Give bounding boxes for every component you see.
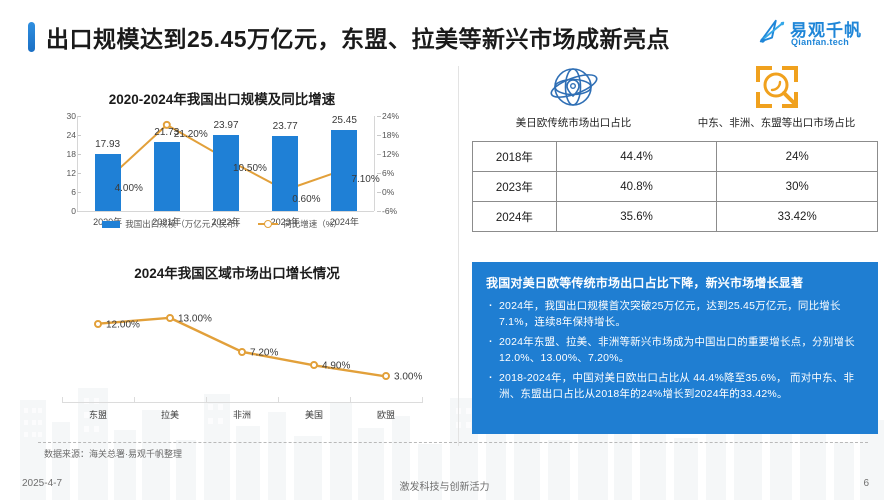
chart2-x-label: 美国 (305, 408, 323, 421)
chart1-bar (154, 142, 180, 211)
chart1-line-value-label: 4.00% (115, 183, 143, 194)
chart2-axis-tick (278, 397, 279, 403)
chart2-point-value-label: 4.90% (322, 361, 350, 372)
chart1-right-tick: 18% (382, 130, 399, 140)
chart2-axis-tick (422, 397, 423, 403)
legend-item-bar: 我国出口规模（万亿元人民币） (102, 218, 244, 230)
chart2-point-value-label: 7.20% (250, 347, 278, 358)
chart1-right-tick: -6% (382, 206, 397, 216)
title-accent-bar (28, 22, 35, 52)
chart1-line-value-label: 0.60% (292, 194, 320, 205)
chart2-x-label: 东盟 (89, 408, 107, 421)
chart1-left-tick: 0 (71, 206, 76, 216)
source-divider (38, 442, 868, 443)
chart2-point-marker (310, 361, 318, 369)
chart2-baseline (62, 402, 422, 403)
chart2-title: 2024年我国区域市场出口增长情况 (22, 262, 452, 282)
table-row: 2024年35.6%33.42% (473, 202, 878, 232)
regional-growth-chart: 2024年我国区域市场出口增长情况 12.00%13.00%7.20%4.90%… (22, 262, 452, 432)
page-header: 出口规模达到25.45万亿元，东盟、拉美等新兴市场成新亮点 易观千帆 Qianf… (0, 0, 889, 62)
chart1-left-tick: 6 (71, 187, 76, 197)
chart2-point-marker (166, 314, 174, 322)
magnifier-frame-icon (752, 62, 802, 112)
market-share-table: 2018年44.4%24%2023年40.8%30%2024年35.6%33.4… (472, 141, 878, 232)
chart1-series-area: 17.9321.7323.9723.7725.454.00%21.20%10.5… (78, 116, 374, 211)
table-cell-year: 2023年 (473, 172, 557, 202)
chart1-baseline (78, 211, 374, 212)
chart1-bar-value-label: 23.77 (273, 121, 298, 132)
insight-title: 我国对美日欧等传统市场出口占比下降，新兴市场增长显著 (486, 274, 864, 291)
chart1-left-tick: 18 (67, 149, 76, 159)
chart1-line-value-label: 7.10% (351, 174, 379, 185)
brand-logo: 易观千帆 Qianfan.tech (757, 14, 875, 56)
chart2-x-label: 非洲 (233, 408, 251, 421)
table-row: 2018年44.4%24% (473, 142, 878, 172)
chart2-axis-tick (350, 397, 351, 403)
table-row: 2023年40.8%30% (473, 172, 878, 202)
export-scale-chart: 2020-2024年我国出口规模及同比增速 0612182430 -6%0%6%… (22, 88, 422, 248)
icon-caption-emerging: 中东、非洲、东盟等出口市场占比 (698, 115, 856, 130)
chart1-left-tick: 12 (67, 168, 76, 178)
chart2-axis-tick (206, 397, 207, 403)
chart1-right-tick: 12% (382, 149, 399, 159)
chart2-point-value-label: 12.00% (106, 319, 140, 330)
icon-column-emerging: 中东、非洲、东盟等出口市场占比 (675, 62, 878, 134)
chart1-right-axis: -6%0%6%12%18%24% (374, 116, 404, 211)
chart2-plot: 12.00%13.00%7.20%4.90%3.00% 东盟拉美非洲美国欧盟 (22, 294, 452, 414)
market-icons-row: 美日欧传统市场出口占比 中东、非洲、东盟等出口市场占比 (472, 62, 878, 134)
chart1-line-value-label: 10.50% (233, 163, 267, 174)
chart1-bar-value-label: 23.97 (213, 120, 238, 131)
brand-subtitle: Qianfan.tech (791, 37, 849, 47)
chart1-line-value-label: 21.20% (174, 129, 208, 140)
chart2-x-label: 拉美 (161, 408, 179, 421)
icon-column-traditional: 美日欧传统市场出口占比 (472, 62, 675, 134)
page-title: 出口规模达到25.45万亿元，东盟、拉美等新兴市场成新亮点 (46, 20, 670, 54)
chart1-title: 2020-2024年我国出口规模及同比增速 (22, 88, 422, 108)
table-cell-emerging-share: 33.42% (717, 202, 878, 232)
legend-item-line: 同比增速（%） (258, 218, 342, 230)
chart1-plot: 0612182430 -6%0%6%12%18%24% 17.9321.7323… (22, 116, 422, 228)
legend-line-swatch (258, 223, 278, 225)
table-cell-traditional-share: 35.6% (556, 202, 717, 232)
insight-bullet: 2024年东盟、拉美、非洲等新兴市场成为中国出口的重要增长点，分别增长12.0%… (486, 334, 864, 366)
chart2-point-marker (238, 348, 246, 356)
table-cell-traditional-share: 40.8% (556, 172, 717, 202)
icon-caption-traditional: 美日欧传统市场出口占比 (516, 115, 632, 130)
chart1-bar (331, 130, 357, 211)
globe-network-icon (547, 62, 601, 112)
table-cell-emerging-share: 24% (717, 142, 878, 172)
table-cell-year: 2018年 (473, 142, 557, 172)
footer-page-number: 6 (863, 478, 869, 489)
insight-bullet-list: 2024年，我国出口规模首次突破25万亿元，达到25.45万亿元，同比增长7.1… (486, 298, 864, 402)
chart1-bar-value-label: 17.93 (95, 139, 120, 150)
chart1-left-axis: 0612182430 (46, 116, 76, 211)
chart2-point-value-label: 3.00% (394, 372, 422, 383)
chart2-point-value-label: 13.00% (178, 313, 212, 324)
chart1-right-tick: 0% (382, 187, 394, 197)
chart1-legend: 我国出口规模（万亿元人民币） 同比增速（%） (22, 218, 422, 230)
table-cell-year: 2024年 (473, 202, 557, 232)
chart2-x-labels: 东盟拉美非洲美国欧盟 (22, 408, 452, 424)
legend-bar-label: 我国出口规模（万亿元人民币） (125, 218, 244, 230)
chart2-axis-tick (62, 397, 63, 403)
insight-bullet: 2018-2024年，中国对美日欧出口占比从 44.4%降至35.6%， 而对中… (486, 370, 864, 402)
chart1-left-tick: 30 (67, 111, 76, 121)
chart1-bar-value-label: 25.45 (332, 115, 357, 126)
chart1-left-tick: 24 (67, 130, 76, 140)
chart2-axis-tick (134, 397, 135, 403)
chart2-trend-line (22, 294, 452, 414)
table-cell-traditional-share: 44.4% (556, 142, 717, 172)
chart2-x-label: 欧盟 (377, 408, 395, 421)
source-note: 数据来源：海关总署·易观千帆整理 (44, 447, 182, 460)
vertical-divider (458, 66, 459, 446)
chart1-right-axis-line (374, 116, 375, 211)
legend-line-label: 同比增速（%） (283, 218, 342, 230)
chart1-right-tick: 24% (382, 111, 399, 121)
chart2-point-marker (94, 320, 102, 328)
chart2-point-marker (382, 372, 390, 380)
sail-arrow-icon (757, 17, 787, 47)
chart1-right-tick: 6% (382, 168, 394, 178)
footer-slogan: 激发科技与创新活力 (0, 478, 889, 493)
table-cell-emerging-share: 30% (717, 172, 878, 202)
insight-bullet: 2024年，我国出口规模首次突破25万亿元，达到25.45万亿元，同比增长7.1… (486, 298, 864, 330)
legend-bar-swatch (102, 221, 120, 228)
insight-box: 我国对美日欧等传统市场出口占比下降，新兴市场增长显著 2024年，我国出口规模首… (472, 262, 878, 434)
